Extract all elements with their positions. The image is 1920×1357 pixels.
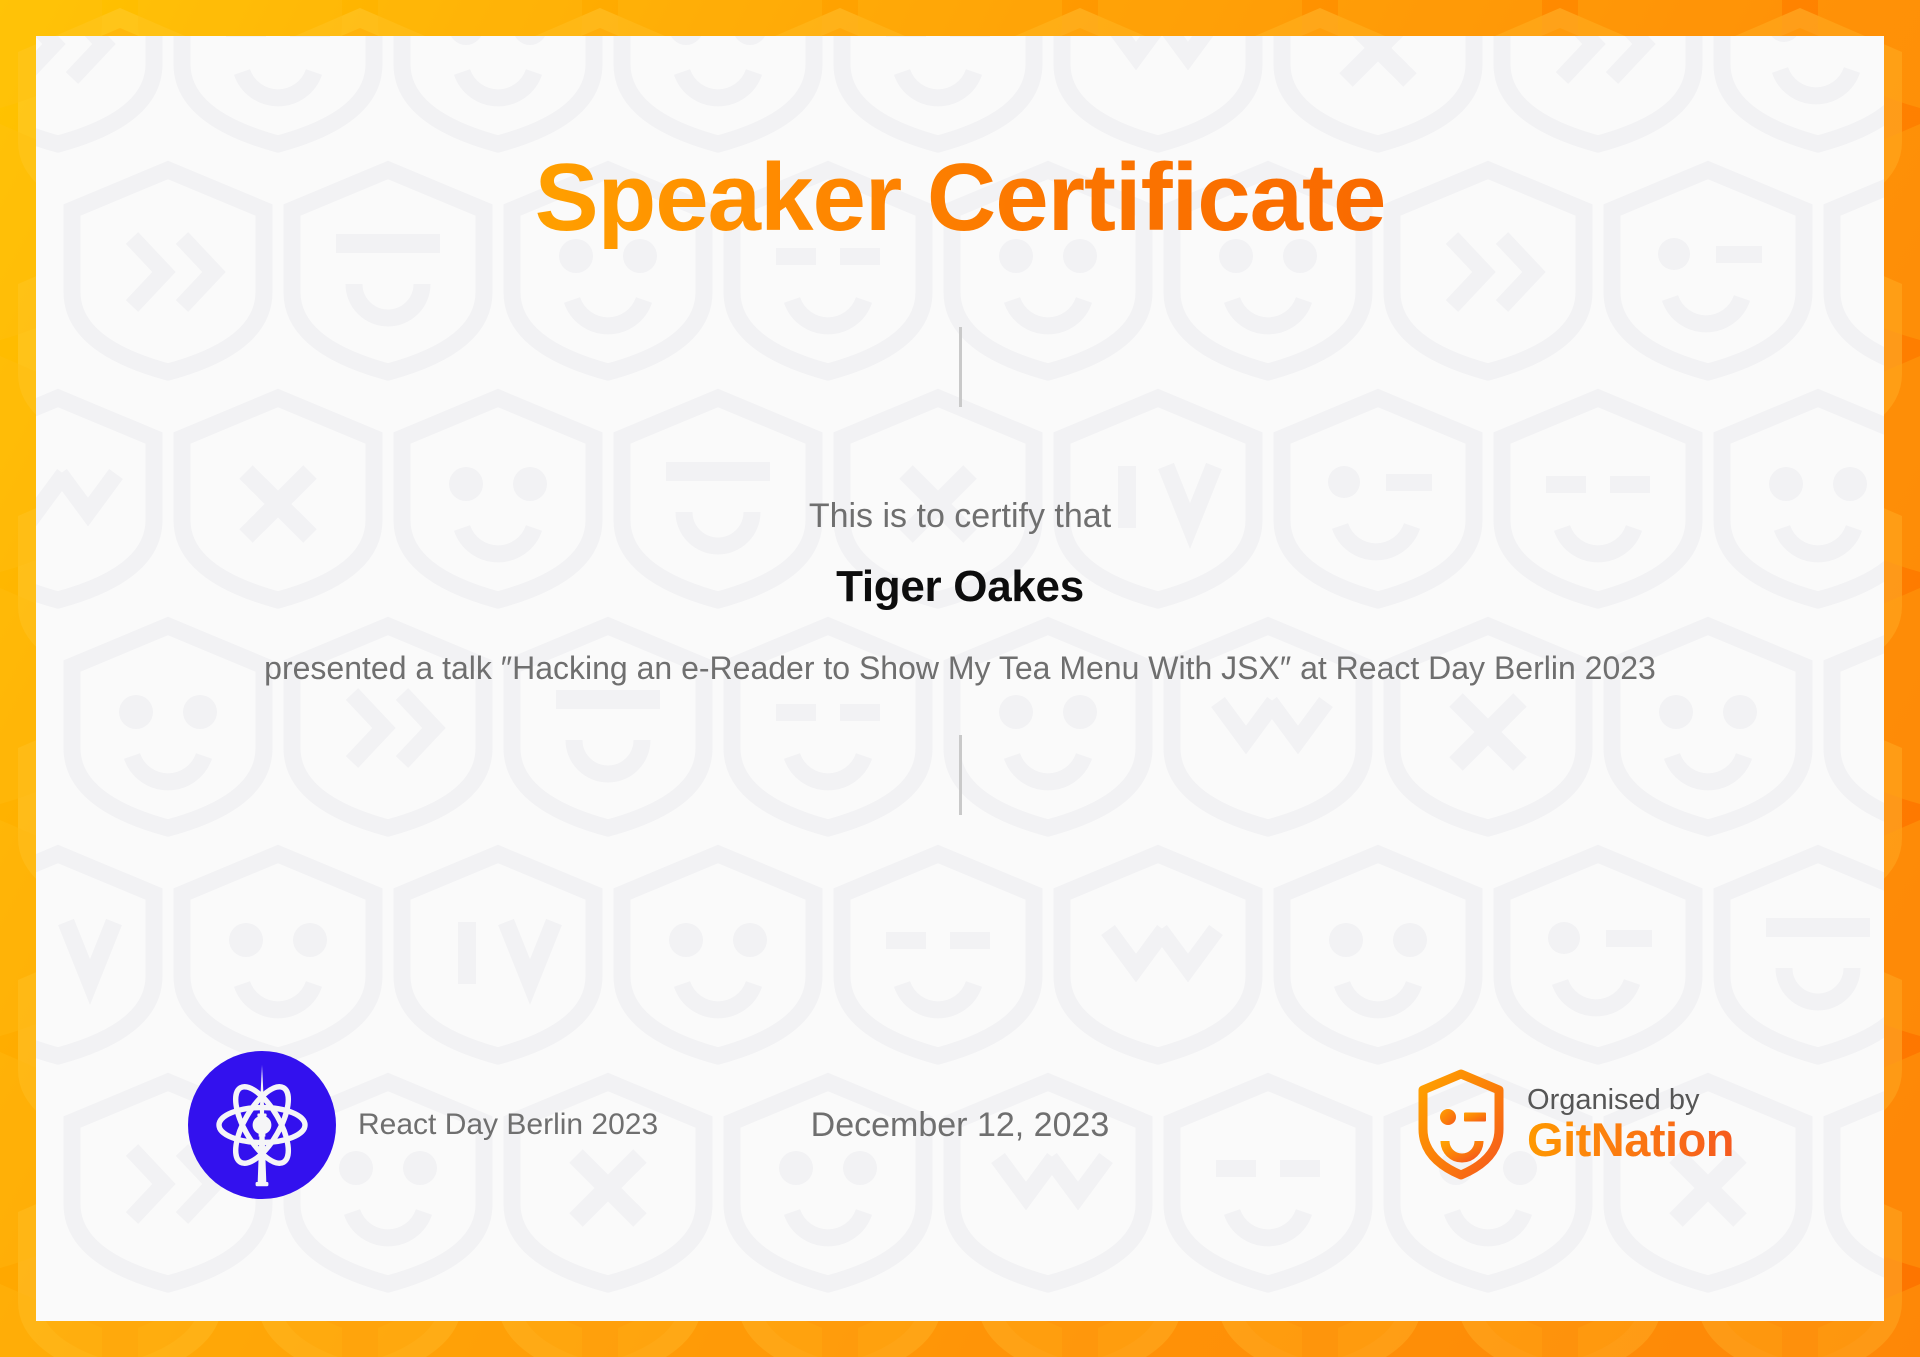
- organised-by-label: Organised by: [1527, 1085, 1734, 1116]
- certificate-footer: React Day Berlin 2023 December 12, 2023: [36, 1051, 1884, 1199]
- certificate-card: Speaker Certificate This is to certify t…: [36, 36, 1884, 1321]
- divider-below-body: [959, 735, 962, 815]
- recipient-name: Tiger Oakes: [836, 562, 1084, 612]
- gitnation-shield-icon: [1417, 1069, 1505, 1181]
- certificate-frame: Speaker Certificate This is to certify t…: [0, 0, 1920, 1357]
- certify-line: This is to certify that: [809, 497, 1111, 536]
- organiser-block: Organised by GitNation: [1417, 1069, 1734, 1181]
- page-title: Speaker Certificate: [535, 148, 1386, 249]
- organiser-text: Organised by GitNation: [1527, 1085, 1734, 1166]
- talk-description: presented a talk ″Hacking an e-Reader to…: [210, 646, 1710, 691]
- divider-above-body: [959, 327, 962, 407]
- organiser-name: GitNation: [1527, 1115, 1734, 1165]
